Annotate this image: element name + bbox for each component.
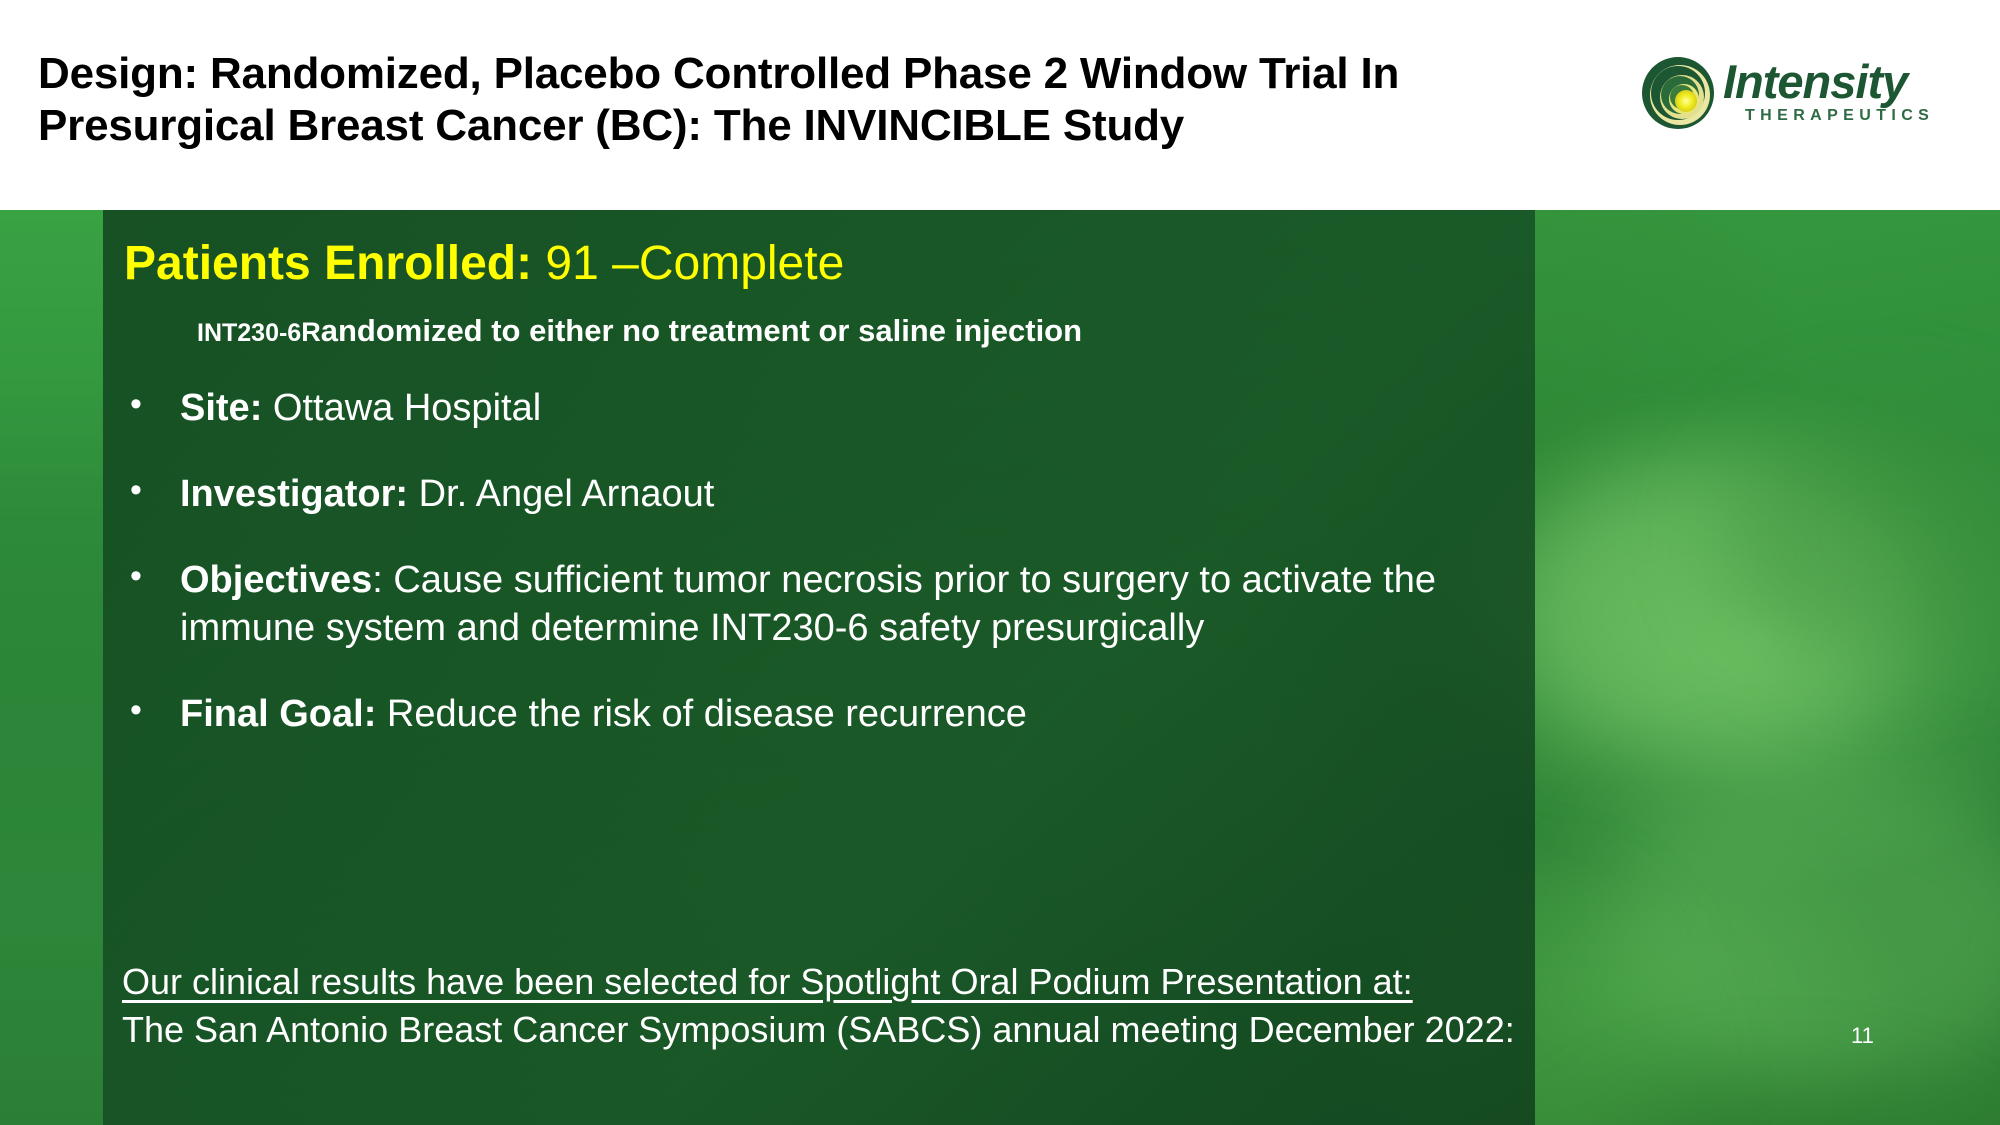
footnote-line-2: The San Antonio Breast Cancer Symposium …	[122, 1006, 1522, 1054]
patients-enrolled-heading: Patients Enrolled: 91 –Complete	[124, 238, 844, 291]
patients-enrolled-label: Patients Enrolled:	[124, 237, 532, 290]
list-item: Objectives: Cause sufficient tumor necro…	[120, 557, 1460, 653]
bullet-value: Dr. Angel Arnaout	[408, 473, 714, 515]
bullet-value: Reduce the risk of disease recurrence	[376, 693, 1027, 735]
bullet-list: Site: Ottawa Hospital Investigator: Dr. …	[120, 385, 1460, 776]
randomization-drug-name: INT230-6	[197, 319, 301, 347]
bullet-value: Ottawa Hospital	[262, 387, 541, 429]
bullet-label: Objectives	[180, 559, 372, 601]
logo-wordmark: Intensity	[1723, 58, 1907, 105]
list-item: Final Goal: Reduce the risk of disease r…	[120, 691, 1460, 739]
bullet-label: Final Goal:	[180, 693, 376, 735]
slide-content: Patients Enrolled: 91 –Complete INT230-6…	[0, 210, 2000, 1125]
list-item: Investigator: Dr. Angel Arnaout	[120, 471, 1460, 519]
footnote-line-1: Our clinical results have been selected …	[122, 958, 1522, 1006]
footnote: Our clinical results have been selected …	[122, 958, 1522, 1053]
slide: Design: Randomized, Placebo Controlled P…	[0, 0, 2000, 1125]
page-number: 11	[1851, 1023, 1874, 1049]
page-title: Design: Randomized, Placebo Controlled P…	[38, 48, 1638, 152]
bullet-label: Investigator:	[180, 473, 408, 515]
concentric-ripple-logo-icon	[1641, 56, 1715, 130]
company-logo: Intensity THERAPEUTICS	[1641, 50, 1911, 140]
randomization-cap-letter: R	[301, 317, 321, 347]
randomization-text: andomized to either no treatment or sali…	[321, 313, 1082, 348]
logo-tagline: THERAPEUTICS	[1745, 107, 1934, 125]
patients-enrolled-value: 91 –Complete	[545, 237, 844, 290]
randomization-subtitle: INT230-6Randomized to either no treatmen…	[197, 314, 1082, 348]
list-item: Site: Ottawa Hospital	[120, 385, 1460, 433]
bullet-label: Site:	[180, 387, 262, 429]
slide-header: Design: Randomized, Placebo Controlled P…	[0, 0, 2000, 210]
